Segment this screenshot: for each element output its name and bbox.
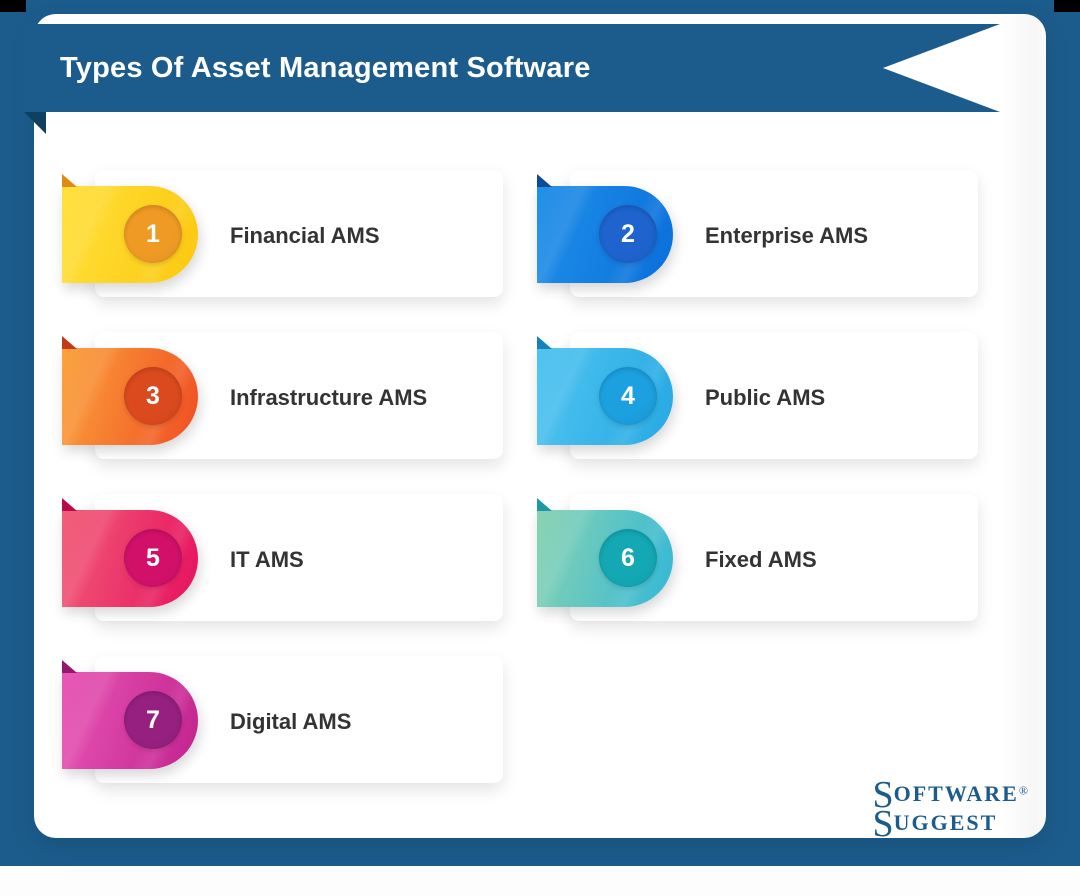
- item-number-badge: 2: [599, 205, 657, 263]
- item-number-badge: 5: [124, 529, 182, 587]
- logo-line2-capital: S: [872, 803, 893, 845]
- items-row: 3 Infrastructure AMS 4 Public AMS: [62, 326, 1002, 469]
- list-item[interactable]: 4 Public AMS: [537, 326, 978, 469]
- logo-line1-rest: OFTWARE: [894, 781, 1019, 806]
- ribbon-fold-icon: [537, 174, 552, 187]
- item-label: Public AMS: [705, 326, 825, 469]
- item-number-badge: 1: [124, 205, 182, 263]
- infographic-root: Types Of Asset Management Software 1 Fin…: [0, 0, 1080, 896]
- item-number-badge: 6: [599, 529, 657, 587]
- header-banner: Types Of Asset Management Software: [24, 24, 1000, 112]
- list-item[interactable]: 5 IT AMS: [62, 488, 503, 631]
- items-row: 7 Digital AMS: [62, 650, 1002, 793]
- item-label: Fixed AMS: [705, 488, 817, 631]
- logo-line2-rest: UGGEST: [894, 810, 998, 835]
- items-grid: 1 Financial AMS 2 Enterprise AMS 3 Infra…: [62, 164, 1002, 812]
- item-label: Financial AMS: [230, 164, 380, 307]
- item-number-badge: 3: [124, 367, 182, 425]
- page-title: Types Of Asset Management Software: [60, 52, 591, 85]
- bottom-white-strip: [0, 866, 1080, 896]
- list-item[interactable]: 6 Fixed AMS: [537, 488, 978, 631]
- items-row: 1 Financial AMS 2 Enterprise AMS: [62, 164, 1002, 307]
- corner-notch-top-right: [1054, 0, 1080, 12]
- banner-shape: Types Of Asset Management Software: [24, 24, 1000, 112]
- item-label: IT AMS: [230, 488, 304, 631]
- item-number-badge: 4: [599, 367, 657, 425]
- item-label: Digital AMS: [230, 650, 351, 793]
- ribbon-fold-icon: [62, 174, 77, 187]
- item-number-badge: 7: [124, 691, 182, 749]
- softwaresuggest-logo: SOFTWARE® SUGGEST: [872, 778, 1028, 842]
- list-item[interactable]: 3 Infrastructure AMS: [62, 326, 503, 469]
- corner-notch-top-left: [0, 0, 26, 12]
- item-label: Enterprise AMS: [705, 164, 868, 307]
- list-item[interactable]: 2 Enterprise AMS: [537, 164, 978, 307]
- list-item[interactable]: 1 Financial AMS: [62, 164, 503, 307]
- items-row: 5 IT AMS 6 Fixed AMS: [62, 488, 1002, 631]
- registered-mark-icon: ®: [1019, 784, 1028, 798]
- list-item-placeholder: [537, 650, 978, 793]
- item-label: Infrastructure AMS: [230, 326, 427, 469]
- list-item[interactable]: 7 Digital AMS: [62, 650, 503, 793]
- card-edge-shading: [1000, 14, 1046, 838]
